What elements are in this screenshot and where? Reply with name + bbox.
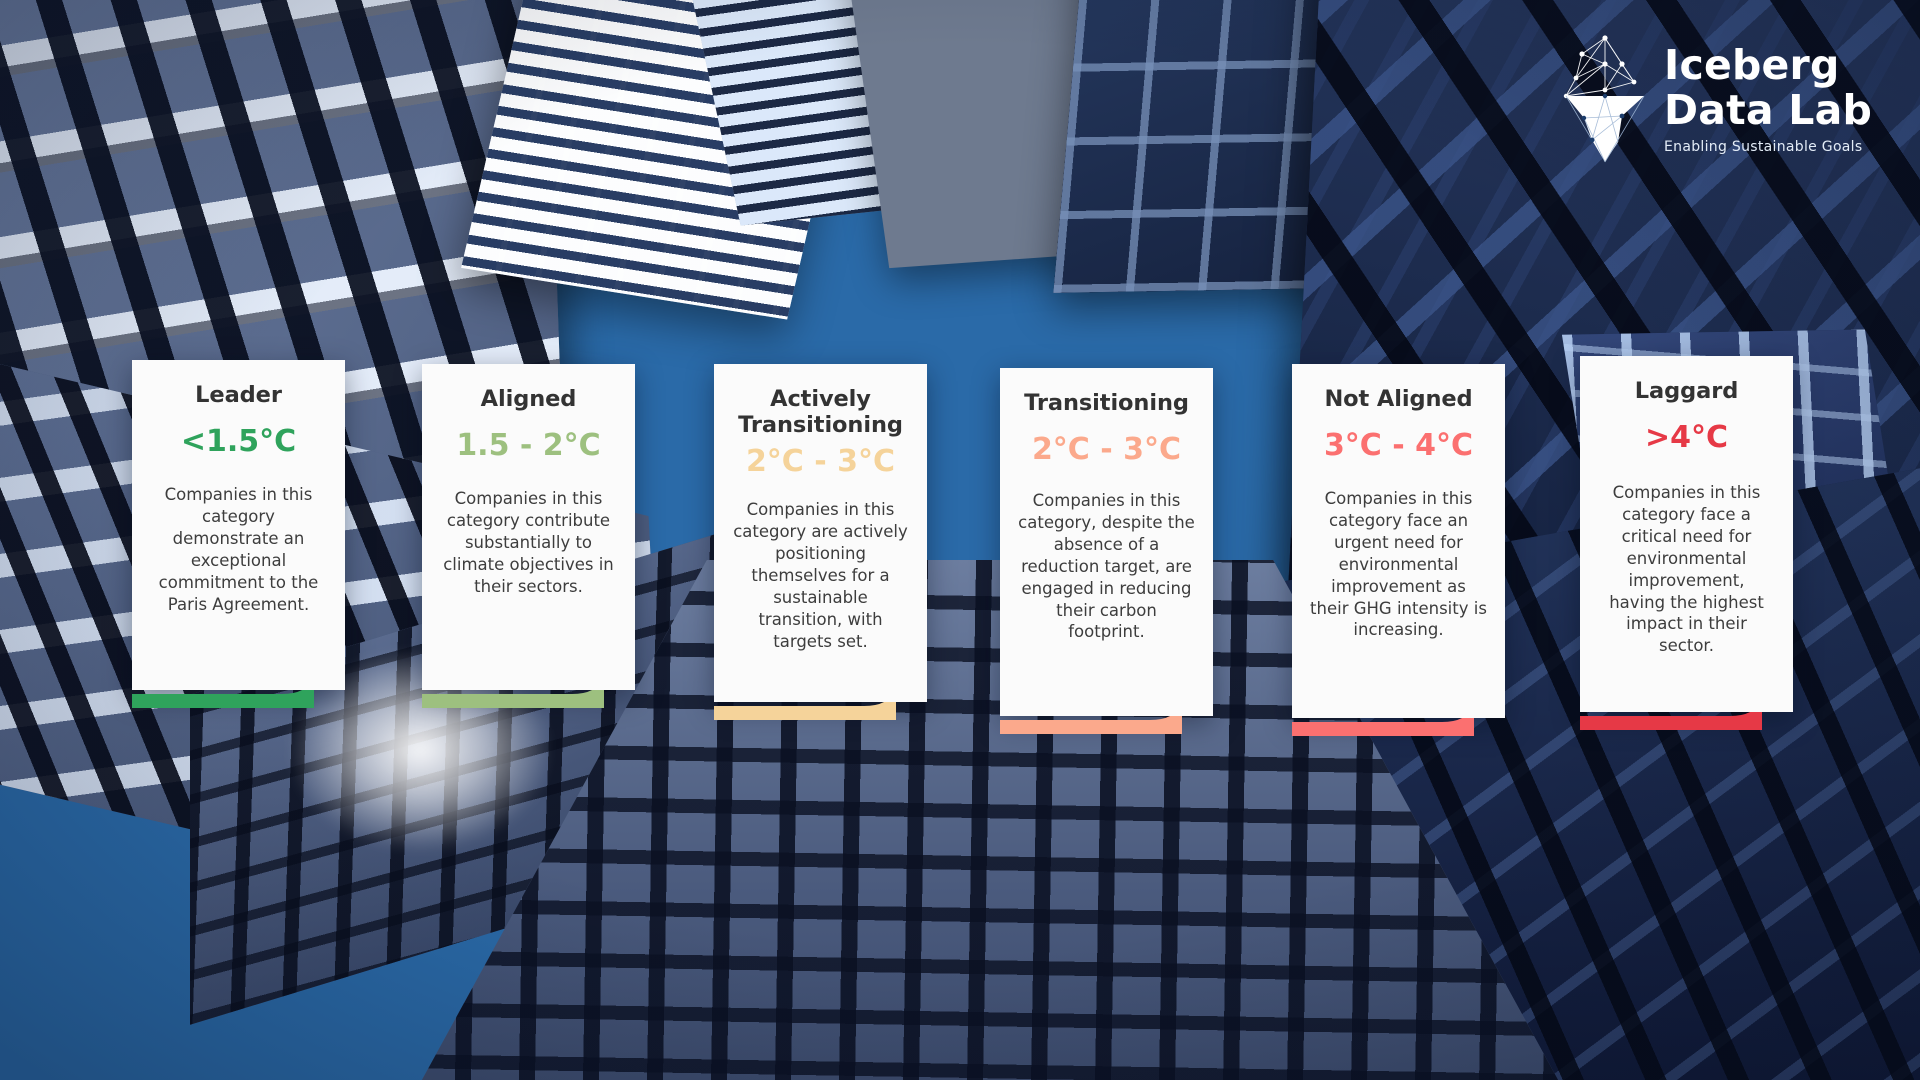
category-card-not-aligned[interactable]: Not Aligned 3°C - 4°C Companies in this … — [1292, 364, 1505, 718]
card-temperature-range: <1.5°C — [148, 425, 329, 460]
card-temperature-range: 2°C - 3°C — [1016, 433, 1197, 468]
brand-tagline: Enabling Sustainable Goals — [1664, 140, 1872, 154]
card-temperature-range: 3°C - 4°C — [1308, 429, 1489, 464]
card-accent-bar — [714, 702, 927, 720]
card-accent-bar — [1000, 716, 1213, 734]
card-accent-bar — [1580, 712, 1793, 730]
card-accent-bar — [422, 690, 635, 708]
card-title: Aligned — [438, 386, 619, 412]
card-temperature-range: 1.5 - 2°C — [438, 429, 619, 464]
brand-name-line-2: Data Lab — [1664, 90, 1872, 131]
iceberg-network-icon — [1562, 34, 1648, 164]
brand-logo: Iceberg Data Lab Enabling Sustainable Go… — [1562, 34, 1872, 164]
card-description: Companies in this category, despite the … — [1016, 490, 1197, 716]
card-title: Actively Transitioning — [730, 386, 911, 439]
card-accent-bar — [132, 690, 345, 708]
card-temperature-range: >4°C — [1596, 421, 1777, 456]
brand-name-line-1: Iceberg — [1664, 45, 1872, 86]
card-title: Leader — [148, 382, 329, 408]
category-card-laggard[interactable]: Laggard >4°C Companies in this category … — [1580, 356, 1793, 712]
card-title: Laggard — [1596, 378, 1777, 404]
card-description: Companies in this category face an urgen… — [1308, 488, 1489, 718]
card-description: Companies in this category demonstrate a… — [148, 484, 329, 690]
card-accent-bar — [1292, 718, 1505, 736]
card-description: Companies in this category face a critic… — [1596, 482, 1777, 712]
card-title: Not Aligned — [1308, 386, 1489, 412]
card-description: Companies in this category are actively … — [730, 499, 911, 702]
category-card-aligned[interactable]: Aligned 1.5 - 2°C Companies in this cate… — [422, 364, 635, 690]
category-card-leader[interactable]: Leader <1.5°C Companies in this category… — [132, 360, 345, 690]
category-card-actively-transitioning[interactable]: Actively Transitioning 2°C - 3°C Compani… — [714, 364, 927, 702]
card-description: Companies in this category contribute su… — [438, 488, 619, 690]
card-temperature-range: 2°C - 3°C — [730, 445, 911, 480]
card-title: Transitioning — [1016, 390, 1197, 416]
category-card-transitioning[interactable]: Transitioning 2°C - 3°C Companies in thi… — [1000, 368, 1213, 716]
